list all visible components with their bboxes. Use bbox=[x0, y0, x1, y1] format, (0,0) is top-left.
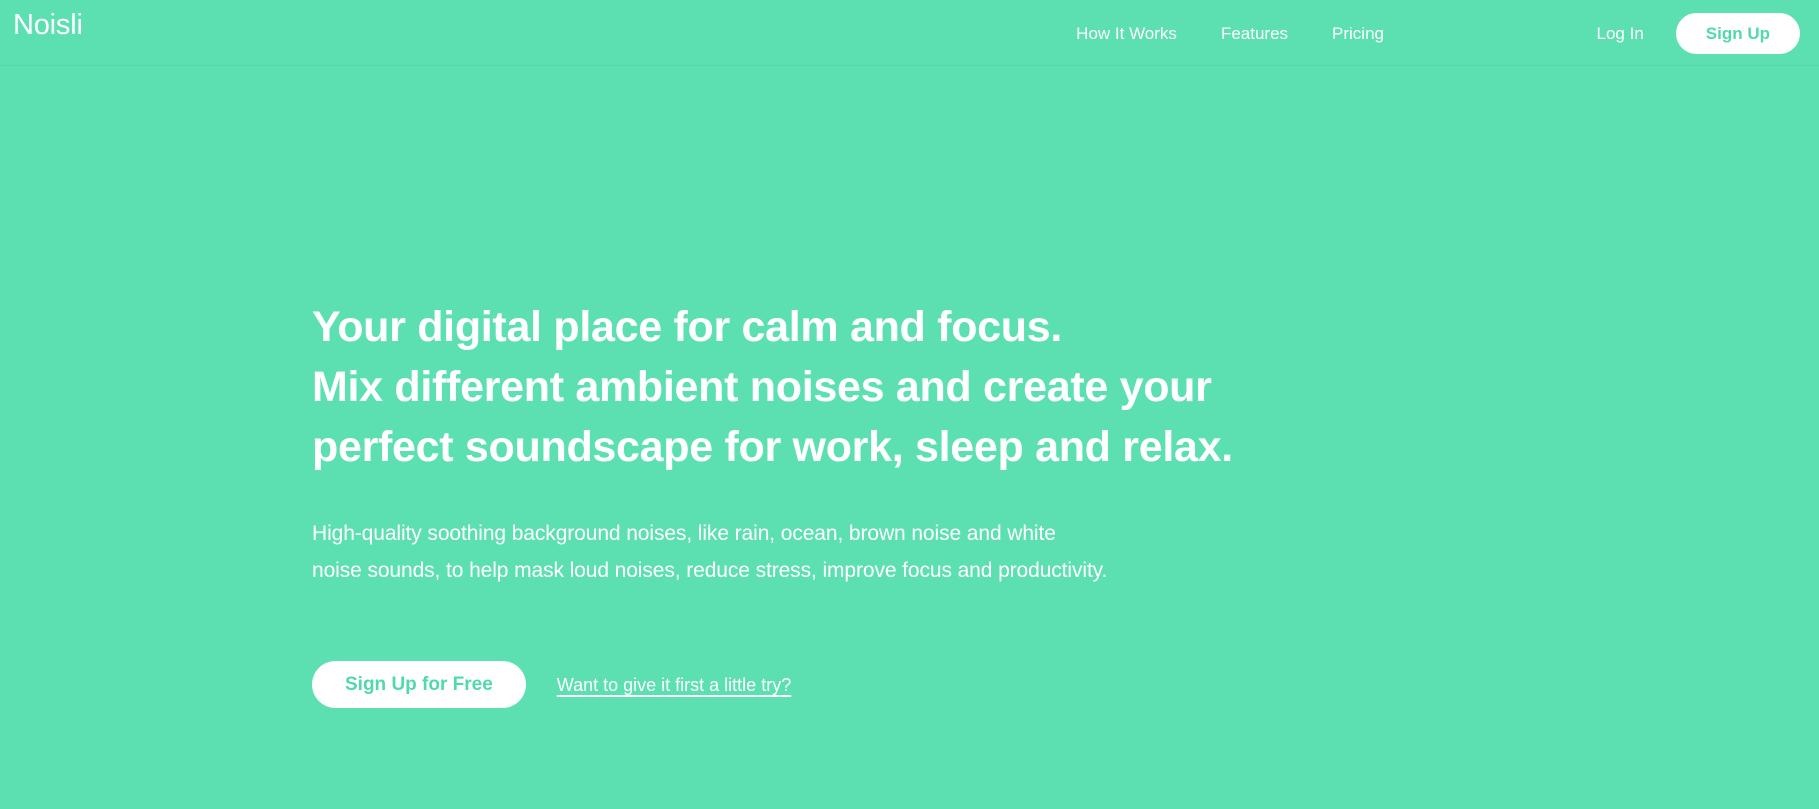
nav-item-pricing[interactable]: Pricing bbox=[1332, 25, 1384, 42]
brand-logo[interactable]: Noisli bbox=[13, 11, 83, 40]
hero-subtitle-line-1: High-quality soothing background noises,… bbox=[312, 515, 1412, 552]
hero-subtitle-line-2: noise sounds, to help mask loud noises, … bbox=[312, 552, 1412, 589]
hero-cta-group: Sign Up for Free Want to give it first a… bbox=[312, 661, 1412, 708]
try-it-link[interactable]: Want to give it first a little try? bbox=[557, 676, 791, 694]
main-navigation: How It Works Features Pricing bbox=[1076, 0, 1384, 66]
auth-actions: Log In Sign Up bbox=[1597, 0, 1800, 66]
site-header: Noisli How It Works Features Pricing Log… bbox=[0, 0, 1819, 66]
hero-subtitle: High-quality soothing background noises,… bbox=[312, 515, 1412, 589]
hero-title-line-3: perfect soundscape for work, sleep and r… bbox=[312, 417, 1412, 477]
login-link[interactable]: Log In bbox=[1597, 25, 1644, 42]
signup-for-free-button[interactable]: Sign Up for Free bbox=[312, 661, 526, 708]
hero-title: Your digital place for calm and focus. M… bbox=[312, 297, 1412, 477]
hero-content: Your digital place for calm and focus. M… bbox=[312, 297, 1412, 708]
nav-item-how-it-works[interactable]: How It Works bbox=[1076, 25, 1177, 42]
hero-title-line-1: Your digital place for calm and focus. bbox=[312, 297, 1412, 357]
nav-item-features[interactable]: Features bbox=[1221, 25, 1288, 42]
hero-section: Your digital place for calm and focus. M… bbox=[0, 66, 1819, 809]
signup-button[interactable]: Sign Up bbox=[1676, 13, 1800, 54]
hero-title-line-2: Mix different ambient noises and create … bbox=[312, 357, 1412, 417]
